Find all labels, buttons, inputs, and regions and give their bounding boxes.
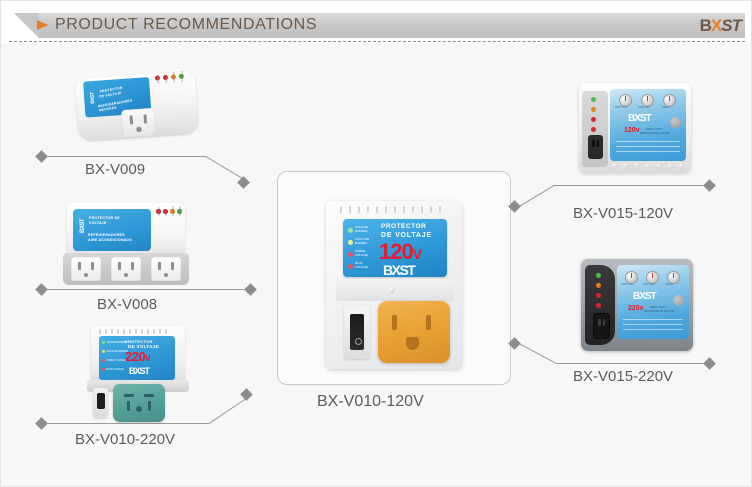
voltage-rating: 220V [125,350,150,363]
page-title: PRODUCT RECOMMENDATIONS [55,16,317,34]
socket-slot-right [426,315,431,330]
socket-slot-vert-left [127,401,130,411]
panel-text-line1: PROTECTOR [381,223,426,230]
socket-ground [164,273,168,277]
voltage-unit: V [145,354,150,363]
device-logo: BXST [89,92,96,104]
connector-diamond [703,179,716,192]
socket-slot-right [91,262,94,270]
socket-slot-left [118,262,121,270]
dial-1-label: HIGH VOLT [621,283,634,286]
power-socket [121,108,156,138]
power-switch[interactable] [344,307,370,359]
page-header: PRODUCT RECOMMENDATIONS BXST [1,1,752,44]
device-feet-row [612,163,684,170]
panel-text-line2: VOLTAJE [89,221,106,225]
power-socket-3 [151,257,181,281]
dial-1-label: HIGH VOLT [615,106,628,109]
product-label-v008: BX-V008 [97,296,157,313]
header-divider [9,41,745,42]
socket-ground [136,406,142,412]
dial-3-label: DELAY [666,283,674,286]
led-red-2-icon [591,127,596,132]
device-logo: BXST [80,219,86,233]
socket-slot-right [143,114,147,123]
voltage-rating: 120v [624,127,640,134]
voltage-subtitle: HEAVY DUTY [650,306,666,309]
triangle-right-icon [37,20,48,30]
device-side-panel [582,91,608,167]
led-label: VOLTAJE NORMAL [107,341,128,344]
device-front-panel: BXST PROTECTOR DE VOLTAJE REFRIGERADORES… [73,209,151,251]
led-label: VOLTAJE [355,266,368,269]
socket-slot-right [131,262,134,270]
led-label: ESPERA [355,242,367,245]
panel-text-line4: AIRE ACONDICIONADO [88,238,132,242]
product-label-v015-220: BX-V015-220V [573,368,673,385]
led-yellow-icon [348,240,353,245]
screw-icon [389,287,395,293]
voltage-rating: 120V [379,241,421,263]
led-orange-icon [591,107,596,112]
device-mid-section [336,279,454,301]
led-green-icon [591,97,596,102]
product-label-v015-120: BX-V015-120V [573,205,673,222]
socket-slot-left [158,262,161,270]
led-green-icon [102,341,105,344]
socket-slot-left [392,315,397,330]
led-red-1-icon [102,359,105,362]
brand-logo-x: X [711,16,721,35]
connector-line [46,156,206,157]
connector-line [553,185,709,186]
product-label-v010-120: BX-V010-120V [317,393,424,411]
header-notch-decoration [9,13,39,38]
dial-2-label: LOW VOLT [643,283,655,286]
device-logo: BXST [383,262,414,278]
socket-ground [136,127,141,132]
socket-slot-right [171,262,174,270]
brand-logo-st: ST [721,16,741,35]
product-image-v010-220[interactable]: PROTECTOR DE VOLTAJE 220V BXST VOLTAJE N… [79,326,197,422]
power-socket-1 [71,257,101,281]
device-front-panel: HIGH VOLT LOW VOLT DELAY BXST 120v HEAVY… [610,89,686,161]
dial-2-label: LOW VOLT [638,106,650,109]
connector-diamond [244,283,257,296]
led-label: BAJO VOLTAJE [107,368,124,371]
led-label: ESPERA [173,72,177,83]
voltage-subtitle: HEAVY DUTY [646,128,662,131]
led-red-1-icon [348,252,353,257]
brand-logo-b: B [700,16,711,35]
connector-line [209,398,247,424]
voltage-subtitle-2: PROTECTOR DE VOLTAJE [640,132,670,135]
outlet-strip [63,253,189,285]
led-label: SOBRE [158,207,161,216]
led-label: NORMAL [355,230,368,233]
plug-receptacle [588,135,603,159]
connector-diamond [237,176,250,189]
power-switch[interactable] [93,388,108,418]
power-socket [378,301,450,363]
brand-logo: BXST [700,16,741,36]
led-orange-icon [596,283,601,288]
led-label: BAJO [165,76,168,83]
vent-grille [340,206,448,213]
device-logo: BXST [633,291,656,302]
led-yellow-icon [102,350,105,353]
led-red-1-icon [596,293,601,298]
vent-grille [99,329,169,334]
voltage-subtitle-2: PROTECTOR DE VOLTAJE [644,310,674,313]
dial-3-label: DELAY [662,106,670,109]
plug-receptacle [593,313,610,339]
connector-line [519,185,554,206]
led-red-2-icon [348,264,353,269]
led-green-icon [596,273,601,278]
panel-text-line3: REFRIGERADORES [88,233,125,237]
device-front-panel: PROTECTOR DE VOLTAJE 120V BXST VOLTAJE N… [343,219,447,277]
connector-diamond [240,388,253,401]
product-image-v008[interactable]: BXST PROTECTOR DE VOLTAJE REFRIGERADORES… [63,203,193,285]
led-label: NORMAL [179,205,182,216]
voltage-number: 120 [379,239,413,264]
led-red-2-icon [102,368,105,371]
connector-line [46,423,209,424]
voltage-rating: 220v [628,305,644,312]
device-front-panel: HIGH VOLT LOW VOLT DELAY BXST 220v HEAVY… [617,265,689,339]
socket-slot-left [130,115,134,124]
socket-slot-vert-right [148,401,151,411]
indicator-dot [670,117,681,128]
led-red-2-icon [596,303,601,308]
product-image-v015-120[interactable]: HIGH VOLT LOW VOLT DELAY BXST 120v HEAVY… [579,83,691,173]
connector-line [556,363,709,364]
device-front-panel: PROTECTOR DE VOLTAJE 220V BXST VOLTAJE N… [99,336,175,380]
product-recommendations-page: PRODUCT RECOMMENDATIONS BXST [0,0,752,487]
connector-diamond [703,357,716,370]
led-green-icon [348,228,353,233]
led-label: VOLTAJE [355,254,368,257]
connector-line [46,289,246,290]
socket-ground [84,273,88,277]
panel-text-line1: PROTECTOR DE [89,216,120,220]
product-image-v015-220[interactable]: HIGH VOLT LOW VOLT DELAY BXST 220v HEAVY… [581,259,693,351]
led-red-1-icon [591,117,596,122]
product-image-v009[interactable]: BXST PROTECTOR DE VOLTAJE REFRIGERADORES… [74,65,199,151]
led-label: CICLO DE ESPERA [107,350,129,353]
rocker-icon [350,314,364,350]
socket-slot-left [78,262,81,270]
socket-slot-right [144,394,154,397]
rocker-icon [97,393,105,409]
led-label: SOBRE [157,74,161,83]
socket-ground [124,273,128,277]
device-logo: BXST [129,366,149,376]
voltage-unit: V [413,246,421,262]
device-side-panel [585,265,615,345]
product-label-v010-220: BX-V010-220V [75,431,175,448]
led-label: ESPERA [172,206,175,216]
connector-line [519,343,557,364]
indicator-dot [673,295,684,306]
power-socket [113,384,165,422]
product-label-v009: BX-V009 [85,161,145,178]
power-socket-2 [111,257,141,281]
socket-ground [406,337,419,350]
product-image-v010-120[interactable]: PROTECTOR DE VOLTAJE 120V BXST VOLTAJE N… [326,201,462,369]
led-label: SOBRE VOLTAJE [107,359,126,362]
led-label: BAJO [165,209,168,216]
device-logo: BXST [628,113,651,124]
panel-text-line2: DE VOLTAJE [381,232,432,239]
socket-slot-left [124,394,134,397]
connector-line [205,156,242,178]
